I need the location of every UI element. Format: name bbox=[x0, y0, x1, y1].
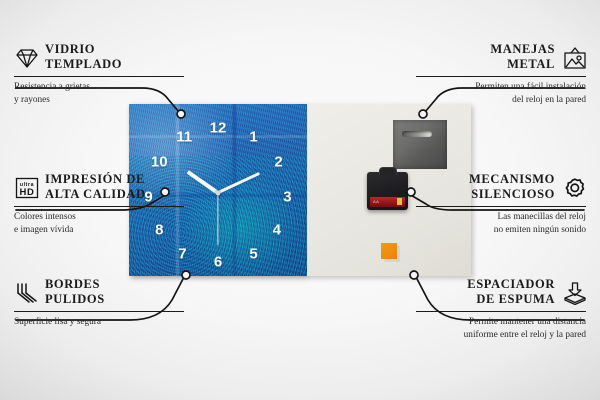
clock-numeral-12: 12 bbox=[210, 121, 227, 136]
feature-subtitle: Superficie lisa y segura bbox=[14, 316, 184, 329]
clock-center-cap bbox=[216, 191, 221, 196]
clock-numeral-6: 6 bbox=[214, 255, 222, 270]
feature-title: MANEJAS METAL bbox=[490, 42, 555, 71]
divider bbox=[14, 311, 184, 312]
gear-icon bbox=[562, 176, 586, 198]
feature-subtitle: Permite mantener una distancia uniforme … bbox=[416, 316, 586, 341]
battery: AA bbox=[370, 197, 405, 207]
clock-numeral-4: 4 bbox=[273, 222, 281, 237]
clock-second-hand bbox=[217, 193, 218, 245]
clock-minute-hand bbox=[217, 172, 260, 195]
feature-subtitle: Las manecillas del reloj no emiten ningú… bbox=[416, 211, 586, 236]
feature-header: VIDRIO TEMPLADO bbox=[14, 42, 184, 71]
clock-numeral-7: 7 bbox=[178, 246, 186, 261]
clock-numeral-11: 11 bbox=[176, 129, 192, 144]
diamond-icon bbox=[14, 46, 38, 68]
divider bbox=[416, 76, 586, 77]
clock-numeral-9: 9 bbox=[144, 189, 152, 204]
clock-face: 12 1 2 3 4 5 6 7 8 9 10 11 bbox=[129, 104, 307, 276]
clock-hour-hand bbox=[187, 171, 220, 195]
feature-title: MECANISMO SILENCIOSO bbox=[469, 172, 555, 201]
svg-text:HD: HD bbox=[20, 187, 35, 198]
hanger-slot bbox=[402, 131, 432, 137]
feature-header: MECANISMO SILENCIOSO bbox=[416, 172, 586, 201]
feature-header: BORDES PULIDOS bbox=[14, 277, 184, 306]
feature-header: MANEJAS METAL bbox=[416, 42, 586, 71]
battery-label: AA bbox=[373, 199, 379, 204]
clock-numeral-3: 3 bbox=[283, 189, 291, 204]
divider bbox=[416, 206, 586, 207]
battery-positive-terminal bbox=[397, 198, 402, 205]
clock-numeral-1: 1 bbox=[249, 129, 257, 144]
feature-manejas-metal[interactable]: MANEJAS METAL Permiten una fácil instala… bbox=[416, 42, 586, 106]
foam-spacer-icon bbox=[562, 281, 586, 303]
infographic-canvas: 12 1 2 3 4 5 6 7 8 9 10 11 bbox=[0, 0, 600, 400]
feature-espaciador-de-espuma[interactable]: ESPACIADOR DE ESPUMA Permite mantener un… bbox=[416, 277, 586, 341]
metal-hanger-plate bbox=[393, 120, 447, 169]
polished-edges-icon bbox=[14, 281, 38, 303]
divider bbox=[14, 76, 184, 77]
movement-hanger-tab bbox=[379, 167, 397, 175]
picture-frame-hanger-icon bbox=[562, 46, 586, 68]
foam-spacer bbox=[381, 243, 397, 259]
clock-numeral-8: 8 bbox=[155, 222, 163, 237]
feature-subtitle: Permiten una fácil instalación del reloj… bbox=[416, 81, 586, 106]
ultra-hd-icon: ultra HD bbox=[14, 176, 38, 198]
clock-numeral-2: 2 bbox=[274, 155, 282, 170]
feature-title: VIDRIO TEMPLADO bbox=[45, 42, 122, 71]
clock-numeral-5: 5 bbox=[249, 246, 257, 261]
feature-subtitle: Resistencia a grietas y rayones bbox=[14, 81, 184, 106]
quartz-movement: AA bbox=[367, 172, 408, 210]
divider bbox=[416, 311, 586, 312]
feature-vidrio-templado[interactable]: VIDRIO TEMPLADO Resistencia a grietas y … bbox=[14, 42, 184, 106]
clock-numeral-10: 10 bbox=[151, 155, 168, 170]
feature-header: ESPACIADOR DE ESPUMA bbox=[416, 277, 586, 306]
feature-bordes-pulidos[interactable]: BORDES PULIDOS Superficie lisa y segura bbox=[14, 277, 184, 329]
feature-mecanismo-silencioso[interactable]: MECANISMO SILENCIOSO Las manecillas del … bbox=[416, 172, 586, 236]
clock-front-image: 12 1 2 3 4 5 6 7 8 9 10 11 bbox=[129, 104, 307, 276]
feature-title: ESPACIADOR DE ESPUMA bbox=[467, 277, 555, 306]
feature-title: BORDES PULIDOS bbox=[45, 277, 105, 306]
